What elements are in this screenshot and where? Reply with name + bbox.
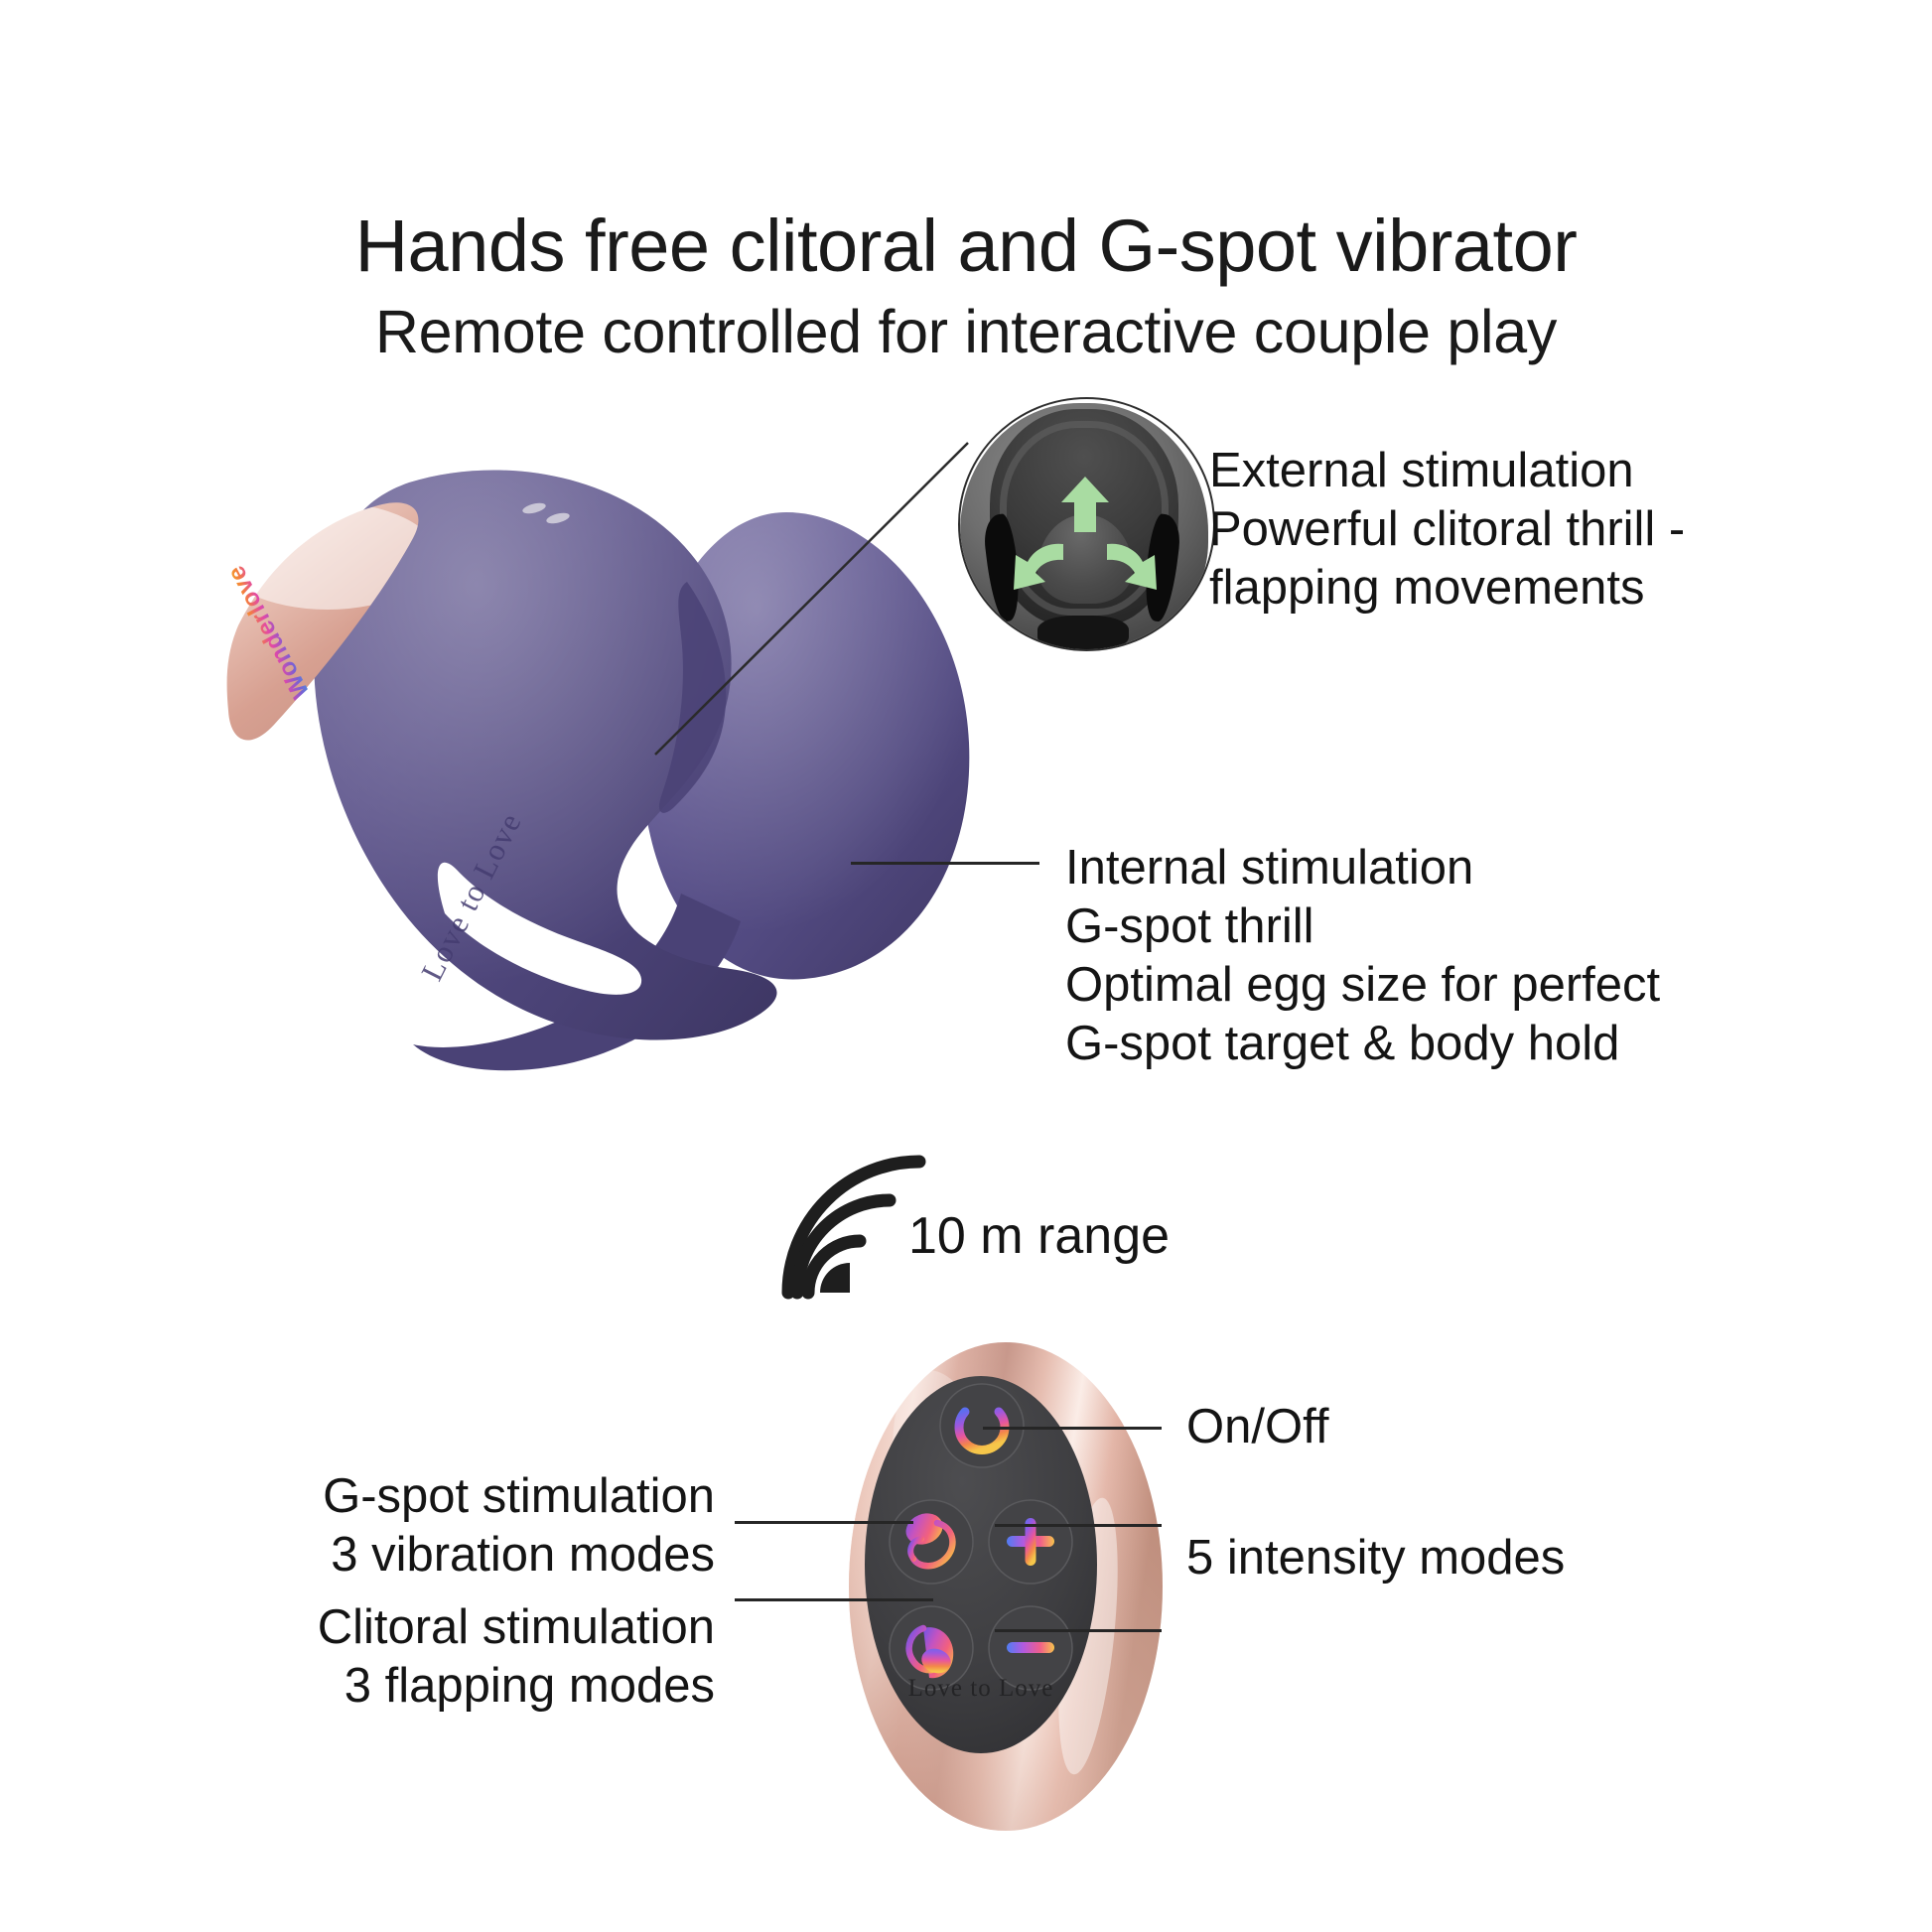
product-illustration: Wonderlove Love to Love (179, 427, 1052, 1221)
callout-gspot-line-1: 3 vibration modes (228, 1526, 715, 1585)
infographic-canvas: Hands free clitoral and G-spot vibrator … (0, 0, 1932, 1932)
callout-external-line-0: External stimulation (1209, 442, 1685, 500)
callout-onoff-label: On/Off (1186, 1398, 1328, 1456)
callout-clitoral-line-0: Clitoral stimulation (228, 1598, 715, 1657)
remote-control: Love to Love (842, 1338, 1170, 1835)
callout-internal-line-1: G-spot thrill (1065, 897, 1660, 956)
leader-intensity-plus (995, 1524, 1162, 1527)
callout-internal-line-3: G-spot target & body hold (1065, 1015, 1660, 1073)
callout-onoff: On/Off (1186, 1398, 1328, 1456)
leader-intensity-minus (995, 1629, 1162, 1632)
callout-intensity-label: 5 intensity modes (1186, 1529, 1565, 1587)
remote-button-power[interactable] (940, 1384, 1024, 1467)
callout-external-line-2: flapping movements (1209, 559, 1685, 618)
flapping-movement-arrows-icon (958, 397, 1215, 651)
leader-internal-stimulation (851, 862, 1039, 865)
remote-button-gspot[interactable] (890, 1500, 973, 1584)
callout-clitoral: Clitoral stimulation 3 flapping modes (228, 1598, 715, 1716)
leader-clitoral (735, 1598, 933, 1601)
callout-external-line-1: Powerful clitoral thrill - (1209, 500, 1685, 559)
remote-svg: Love to Love (842, 1338, 1170, 1835)
callout-gspot-line-0: G-spot stimulation (228, 1467, 715, 1526)
callout-internal-line-2: Optimal egg size for perfect (1065, 956, 1660, 1015)
callout-intensity: 5 intensity modes (1186, 1529, 1565, 1587)
leader-onoff (983, 1427, 1162, 1430)
callout-clitoral-line-1: 3 flapping modes (228, 1657, 715, 1716)
header-block: Hands free clitoral and G-spot vibrator … (0, 204, 1932, 368)
remote-button-plus[interactable] (989, 1500, 1072, 1584)
callout-gspot: G-spot stimulation 3 vibration modes (228, 1467, 715, 1585)
page-subtitle: Remote controlled for interactive couple… (0, 295, 1932, 368)
page-title: Hands free clitoral and G-spot vibrator (0, 204, 1932, 289)
external-stimulation-detail-circle (958, 397, 1215, 651)
callout-external-stimulation: External stimulation Powerful clitoral t… (1209, 442, 1685, 618)
leader-gspot (735, 1521, 913, 1524)
callout-internal-stimulation: Internal stimulation G-spot thrill Optim… (1065, 839, 1660, 1073)
remote-brand: Love to Love (908, 1675, 1054, 1702)
range-label: 10 m range (908, 1206, 1170, 1266)
minus-icon (1007, 1642, 1054, 1653)
vibrator-svg: Wonderlove Love to Love (179, 427, 1052, 1221)
callout-internal-line-0: Internal stimulation (1065, 839, 1660, 897)
